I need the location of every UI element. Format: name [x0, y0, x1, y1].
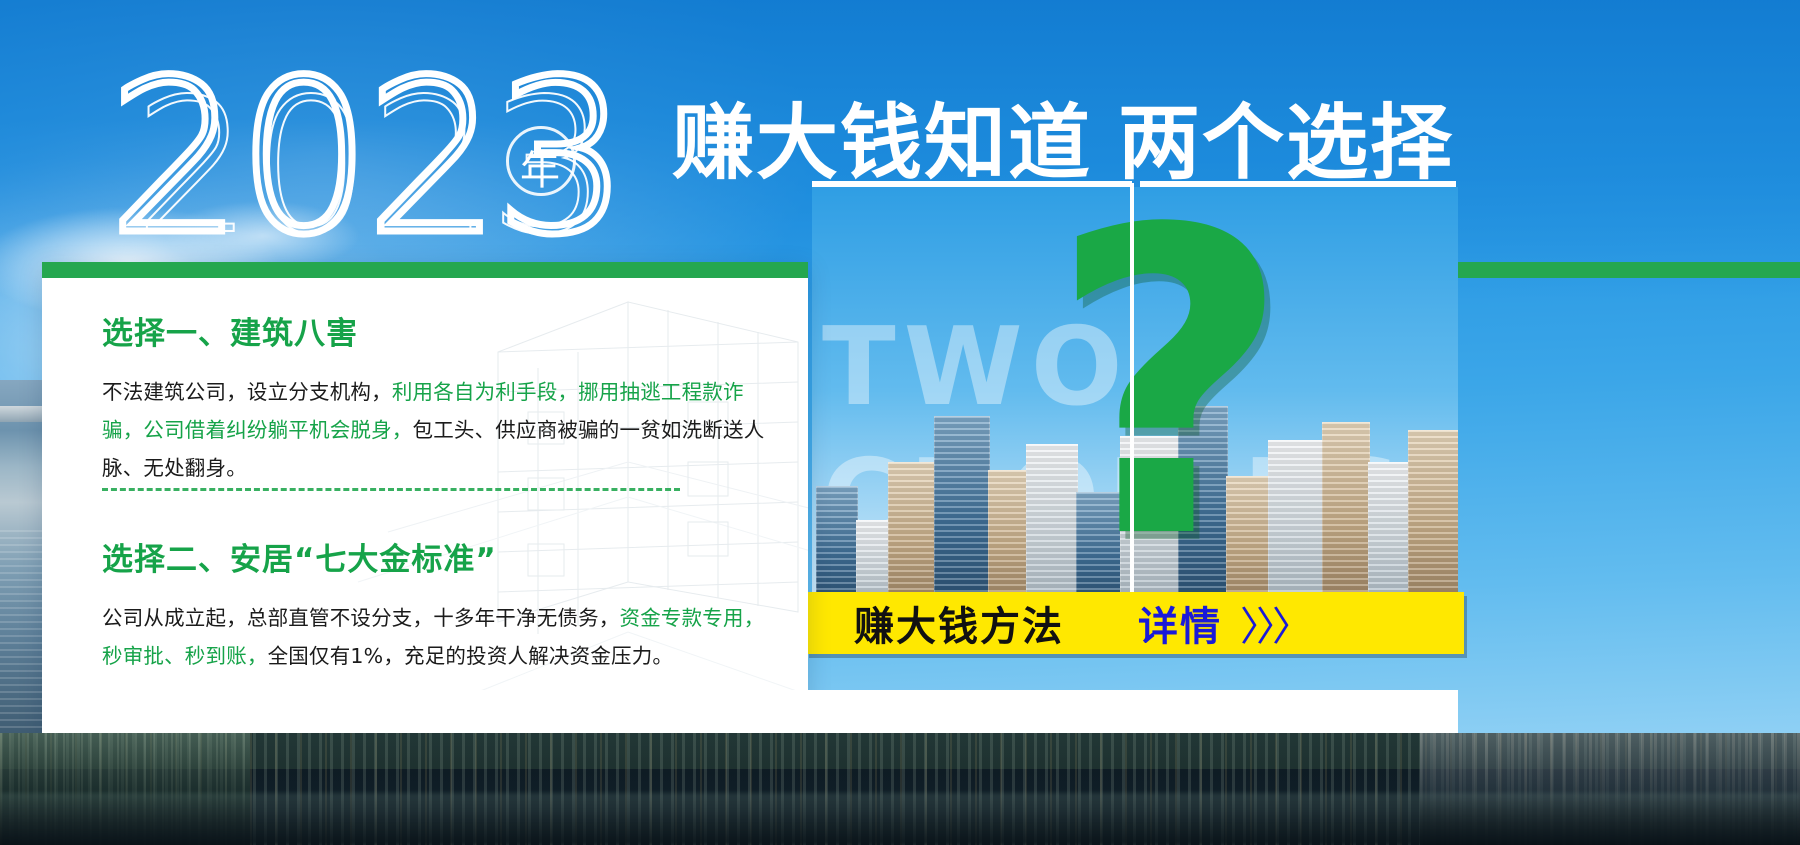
card-accent-bar — [42, 262, 808, 278]
headline-part-one: 赚大钱知道 — [672, 96, 1092, 191]
divider-rule-vertical — [1130, 183, 1134, 613]
building — [1322, 422, 1370, 612]
choice-one-title: 选择一、建筑八害 — [102, 308, 780, 353]
building — [934, 416, 990, 612]
poster-canvas: 2023 2023 年 赚大钱知道两个选择 TWO CHOICES — [0, 0, 1800, 845]
year-unit-label: 年 — [520, 138, 560, 196]
section-divider — [102, 488, 680, 491]
choice-two-seg-2: 全国仅有1%，充足的投资人解决资金压力。 — [268, 644, 674, 668]
cta-banner[interactable]: 赚大钱方法 详情 〉〉〉 — [806, 592, 1464, 654]
bottom-city-strip — [0, 733, 1800, 845]
choice-one-body: 不法建筑公司，设立分支机构，利用各自为利手段，挪用抽逃工程款诈骗，公司借着纠纷躺… — [102, 373, 774, 487]
choice-one-block: 选择一、建筑八害 不法建筑公司，设立分支机构，利用各自为利手段，挪用抽逃工程款诈… — [102, 308, 780, 487]
choice-two-seg-0: 公司从成立起，总部直管不设分支，十多年干净无债务， — [102, 606, 620, 630]
chevron-right-icon: 〉〉〉 — [1240, 594, 1308, 652]
strip-left-photo — [0, 733, 250, 845]
building — [888, 462, 936, 612]
right-image-panel: TWO CHOICES ? — [812, 187, 1458, 612]
building — [1368, 462, 1410, 612]
question-mark-icon: ? — [1048, 187, 1292, 597]
page-title: 赚大钱知道两个选择 — [672, 76, 1454, 195]
cta-main-label: 赚大钱方法 — [854, 594, 1064, 652]
choice-two-block: 选择二、安居“七大金标准” 公司从成立起，总部直管不设分支，十多年干净无债务，资… — [102, 534, 780, 675]
content-card: 选择一、建筑八害 不法建筑公司，设立分支机构，利用各自为利手段，挪用抽逃工程款诈… — [42, 262, 808, 732]
card-footer-strip — [42, 690, 1458, 736]
choice-two-body: 公司从成立起，总部直管不设分支，十多年干净无债务，资金专款专用，秒审批、秒到账，… — [102, 599, 774, 675]
building — [1408, 430, 1458, 612]
cta-detail-link[interactable]: 详情 — [1138, 594, 1222, 652]
choice-one-seg-0: 不法建筑公司，设立分支机构， — [102, 380, 392, 404]
green-accent-tab — [1458, 262, 1800, 278]
building — [988, 470, 1028, 612]
strip-right-photo — [1420, 733, 1800, 845]
headline-part-two: 两个选择 — [1118, 96, 1454, 191]
choice-two-title: 选择二、安居“七大金标准” — [102, 534, 780, 579]
